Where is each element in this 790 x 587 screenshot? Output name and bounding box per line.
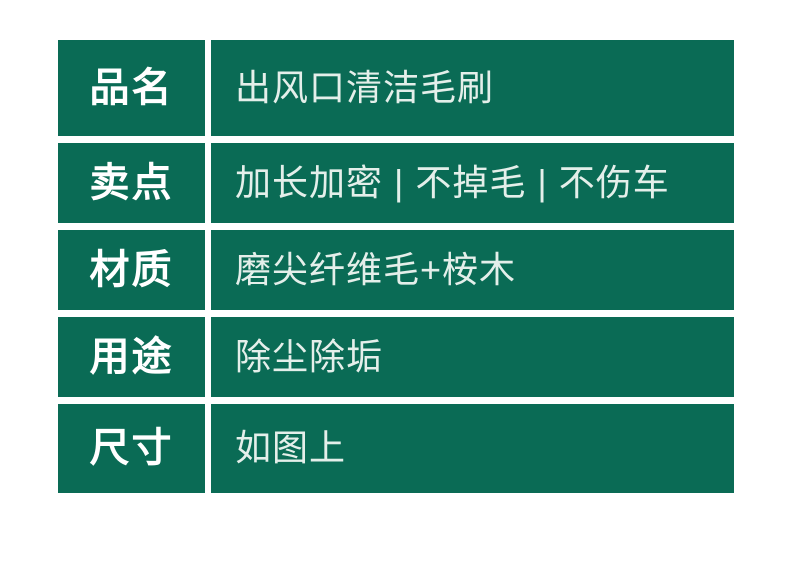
spec-label-text: 用途: [90, 337, 174, 377]
table-row: 品名 出风口清洁毛刷: [58, 40, 734, 136]
spec-label-text: 尺寸: [90, 428, 174, 468]
spec-value-text: 磨尖纤维毛+桉木: [235, 252, 516, 288]
spec-label-text: 材质: [90, 250, 174, 290]
spec-value-cell-selling-point: 加长加密 | 不掉毛 | 不伤车: [211, 143, 734, 223]
spec-value-cell-size: 如图上: [211, 404, 734, 493]
table-row: 卖点 加长加密 | 不掉毛 | 不伤车: [58, 143, 734, 223]
table-row: 尺寸 如图上: [58, 404, 734, 493]
table-row: 材质 磨尖纤维毛+桉木: [58, 230, 734, 310]
spec-value-cell-usage: 除尘除垢: [211, 317, 734, 397]
spec-label-cell-selling-point: 卖点: [58, 143, 205, 223]
spec-label-text: 品名: [90, 68, 174, 108]
table-row: 用途 除尘除垢: [58, 317, 734, 397]
spec-label-cell-size: 尺寸: [58, 404, 205, 493]
spec-label-text: 卖点: [90, 163, 174, 203]
spec-value-text: 如图上: [235, 430, 346, 466]
spec-value-text: 加长加密 | 不掉毛 | 不伤车: [235, 165, 670, 201]
spec-value-text: 除尘除垢: [235, 339, 383, 375]
spec-value-cell-material: 磨尖纤维毛+桉木: [211, 230, 734, 310]
spec-label-cell-material: 材质: [58, 230, 205, 310]
product-spec-table: 品名 出风口清洁毛刷 卖点 加长加密 | 不掉毛 | 不伤车 材质 磨尖纤维毛+…: [58, 40, 734, 493]
spec-value-cell-product-name: 出风口清洁毛刷: [211, 40, 734, 136]
spec-label-cell-product-name: 品名: [58, 40, 205, 136]
spec-label-cell-usage: 用途: [58, 317, 205, 397]
spec-value-text: 出风口清洁毛刷: [235, 70, 494, 106]
